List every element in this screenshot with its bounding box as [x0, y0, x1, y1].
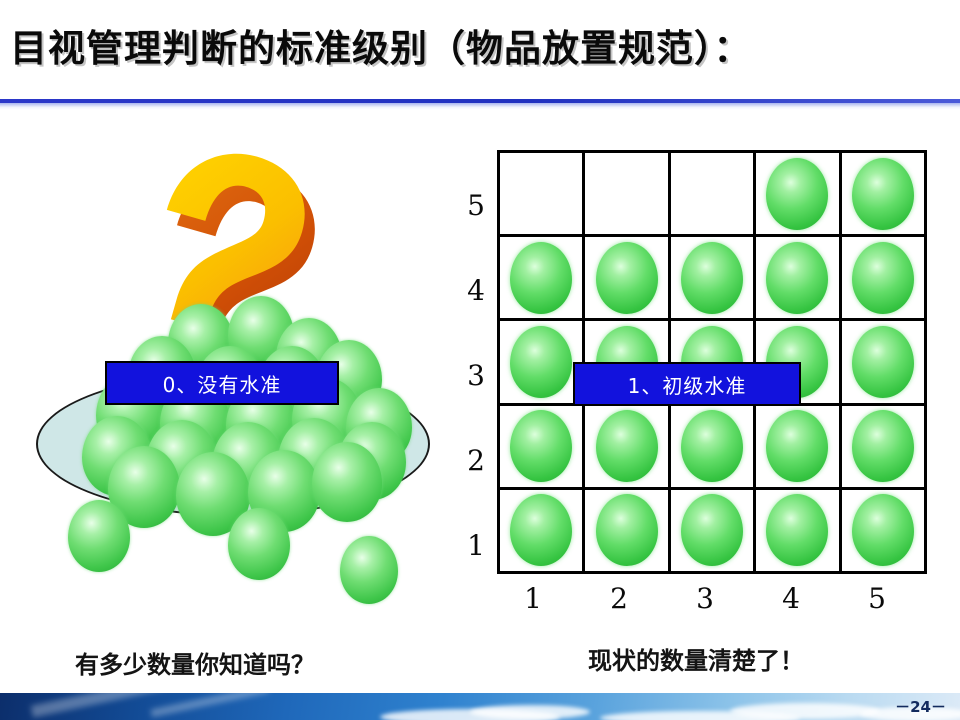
- grid-ball: [766, 158, 828, 230]
- page-number: －24－: [895, 696, 946, 717]
- grid-cell[interactable]: [756, 490, 841, 574]
- grid-cell[interactable]: [842, 321, 927, 405]
- grid-col-label-1: 1: [513, 582, 553, 615]
- grid-cell[interactable]: [671, 406, 756, 490]
- grid-ball: [681, 410, 743, 482]
- sky-cloud: [470, 705, 590, 719]
- level-0-label-box[interactable]: 0、没有水准: [105, 361, 339, 405]
- level-0-label-text: 0、没有水准: [163, 369, 282, 398]
- grid-cell[interactable]: [500, 406, 585, 490]
- grid-cell[interactable]: [842, 237, 927, 321]
- grid-ball: [852, 410, 914, 482]
- grid-cell[interactable]: [756, 153, 841, 237]
- grid-ball: [681, 494, 743, 566]
- loose-ball: [68, 500, 130, 572]
- grid-cell[interactable]: [671, 490, 756, 574]
- grid-col-label-4: 4: [771, 582, 811, 615]
- grid-cell[interactable]: [842, 153, 927, 237]
- grid-col-label-2: 2: [599, 582, 639, 615]
- grid-ball: [510, 494, 572, 566]
- grid-cell[interactable]: [671, 153, 756, 237]
- grid-ball: [596, 242, 658, 314]
- sky-streak: [150, 693, 269, 717]
- page-title: 目视管理判断的标准级别（物品放置规范）：: [10, 18, 940, 72]
- grid-ball: [510, 242, 572, 314]
- grid-ball: [852, 242, 914, 314]
- grid-cell[interactable]: [842, 490, 927, 574]
- grid-col-label-5: 5: [857, 582, 897, 615]
- grid-row-label-4: 4: [463, 274, 489, 307]
- grid-cell[interactable]: [500, 153, 585, 237]
- grid-cell[interactable]: [585, 406, 670, 490]
- grid-cell[interactable]: [500, 237, 585, 321]
- grid-cell[interactable]: [842, 406, 927, 490]
- grid-ball: [852, 158, 914, 230]
- grid-cell[interactable]: [671, 237, 756, 321]
- grid-row-label-3: 3: [463, 359, 489, 392]
- grid-cell[interactable]: [756, 406, 841, 490]
- loose-ball: [228, 508, 290, 580]
- left-caption: 有多少数量你知道吗？: [75, 645, 315, 680]
- grid-ball: [766, 494, 828, 566]
- grid-ball: [596, 410, 658, 482]
- grid-ball: [766, 242, 828, 314]
- title-divider: [0, 97, 960, 109]
- grid-ball: [596, 494, 658, 566]
- grid-row-label-5: 5: [463, 189, 489, 222]
- grid-cell[interactable]: [756, 237, 841, 321]
- grid-cell[interactable]: [585, 490, 670, 574]
- grid-row-label-2: 2: [463, 444, 489, 477]
- sky-cloud: [730, 703, 880, 719]
- grid-ball: [681, 242, 743, 314]
- loose-ball: [340, 536, 398, 604]
- grid-row-label-1: 1: [463, 529, 489, 562]
- slide-canvas: 目视管理判断的标准级别（物品放置规范）：: [0, 0, 960, 720]
- level-1-label-box[interactable]: 1、初级水准: [573, 362, 801, 406]
- footer-sky-band: [0, 693, 960, 720]
- grid-ball: [852, 494, 914, 566]
- divider-glow: [0, 103, 960, 110]
- grid-cell[interactable]: [500, 490, 585, 574]
- level-1-label-text: 1、初级水准: [628, 370, 747, 399]
- grid-ball: [766, 410, 828, 482]
- pile-ball: [312, 442, 382, 522]
- grid-cell[interactable]: [585, 237, 670, 321]
- grid-cell[interactable]: [585, 153, 670, 237]
- grid-col-label-3: 3: [685, 582, 725, 615]
- grid-ball: [510, 410, 572, 482]
- grid-ball: [852, 326, 914, 398]
- right-caption: 现状的数量清楚了！: [588, 641, 804, 676]
- grid-ball: [510, 326, 572, 398]
